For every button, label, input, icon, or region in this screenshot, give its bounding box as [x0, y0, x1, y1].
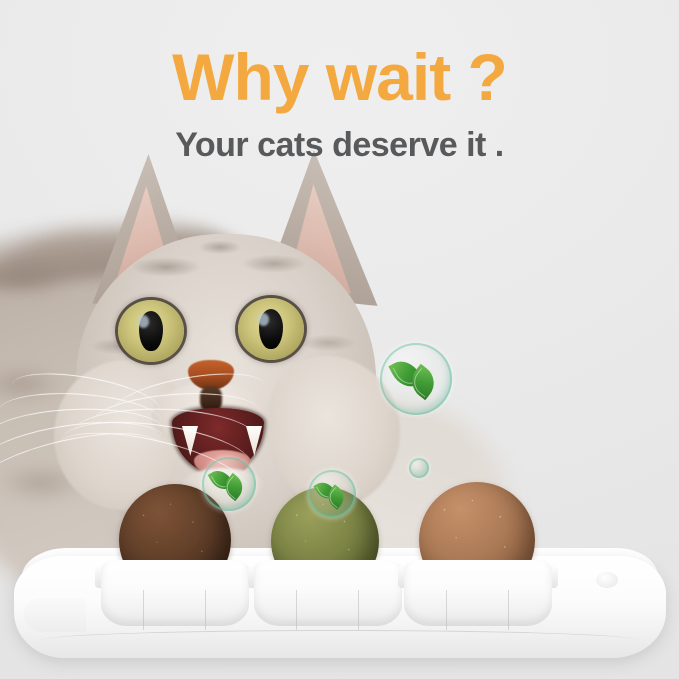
- product-base-seam: [40, 630, 640, 651]
- holder-seam: [358, 590, 359, 630]
- holder-seam: [143, 590, 144, 630]
- mint-bubble-large: [380, 343, 452, 415]
- holder-seam: [296, 590, 297, 630]
- mint-bubble-medium: [202, 457, 256, 511]
- product-ad-canvas: Why wait ? Your cats deserve it .: [0, 0, 679, 679]
- holder-ring: [254, 560, 402, 626]
- ball-holder-2[interactable]: [254, 542, 402, 626]
- cat-eye-right: [238, 298, 304, 360]
- cat-eye-glint-left: [138, 315, 149, 328]
- ball-holder-1[interactable]: [101, 542, 249, 626]
- product-base-notch: [24, 598, 86, 632]
- page-subtitle: Your cats deserve it .: [0, 128, 679, 162]
- holder-ring: [101, 560, 249, 626]
- ball-holder-3[interactable]: [404, 542, 552, 626]
- product-base-knob: [596, 572, 618, 588]
- cat-eye-left: [118, 300, 184, 362]
- mint-bubble-small: [308, 470, 356, 518]
- cat-eye-glint-right: [258, 313, 269, 326]
- holder-seam: [508, 590, 509, 630]
- mint-bubble-tiny: [409, 458, 429, 478]
- holder-seam: [205, 590, 206, 630]
- holder-ring: [404, 560, 552, 626]
- page-title: Why wait ?: [0, 44, 679, 110]
- holder-seam: [446, 590, 447, 630]
